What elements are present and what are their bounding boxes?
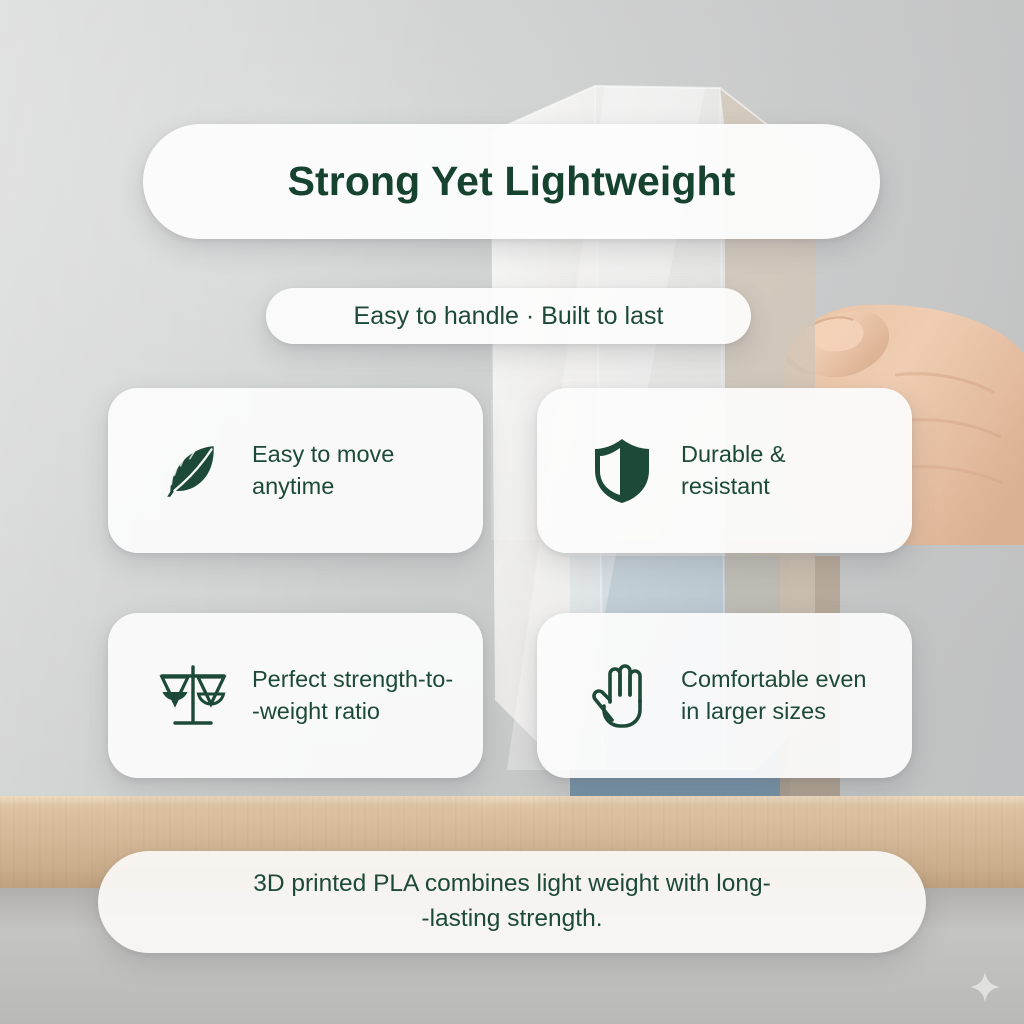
title-banner: Strong Yet Lightweight xyxy=(143,124,880,239)
feature-label: Durable & resistant xyxy=(681,439,786,503)
feather-icon xyxy=(156,434,230,508)
page-subtitle: Easy to handle · Built to last xyxy=(354,302,664,331)
subtitle-banner: Easy to handle · Built to last xyxy=(266,288,751,344)
ui-overlay: Strong Yet Lightweight Easy to handle · … xyxy=(0,0,1024,1024)
sparkle-icon xyxy=(968,970,1002,1004)
feature-label: Comfortable even in larger sizes xyxy=(681,664,867,728)
feature-label: Perfect strength-to- -weight ratio xyxy=(252,664,453,728)
balance-scales-icon xyxy=(156,659,230,733)
feature-card-strength-to-weight[interactable]: Perfect strength-to- -weight ratio xyxy=(108,613,483,778)
infographic-canvas: Strong Yet Lightweight Easy to handle · … xyxy=(0,0,1024,1024)
feature-card-easy-to-move[interactable]: Easy to move anytime xyxy=(108,388,483,553)
footer-banner: 3D printed PLA combines light weight wit… xyxy=(98,851,926,953)
feature-card-durable-resistant[interactable]: Durable & resistant xyxy=(537,388,912,553)
footer-text: 3D printed PLA combines light weight wit… xyxy=(253,867,771,937)
feature-label: Easy to move anytime xyxy=(252,439,394,503)
page-title: Strong Yet Lightweight xyxy=(288,158,736,205)
shield-icon xyxy=(585,434,659,508)
hand-icon xyxy=(585,659,659,733)
feature-card-comfortable-larger-sizes[interactable]: Comfortable even in larger sizes xyxy=(537,613,912,778)
